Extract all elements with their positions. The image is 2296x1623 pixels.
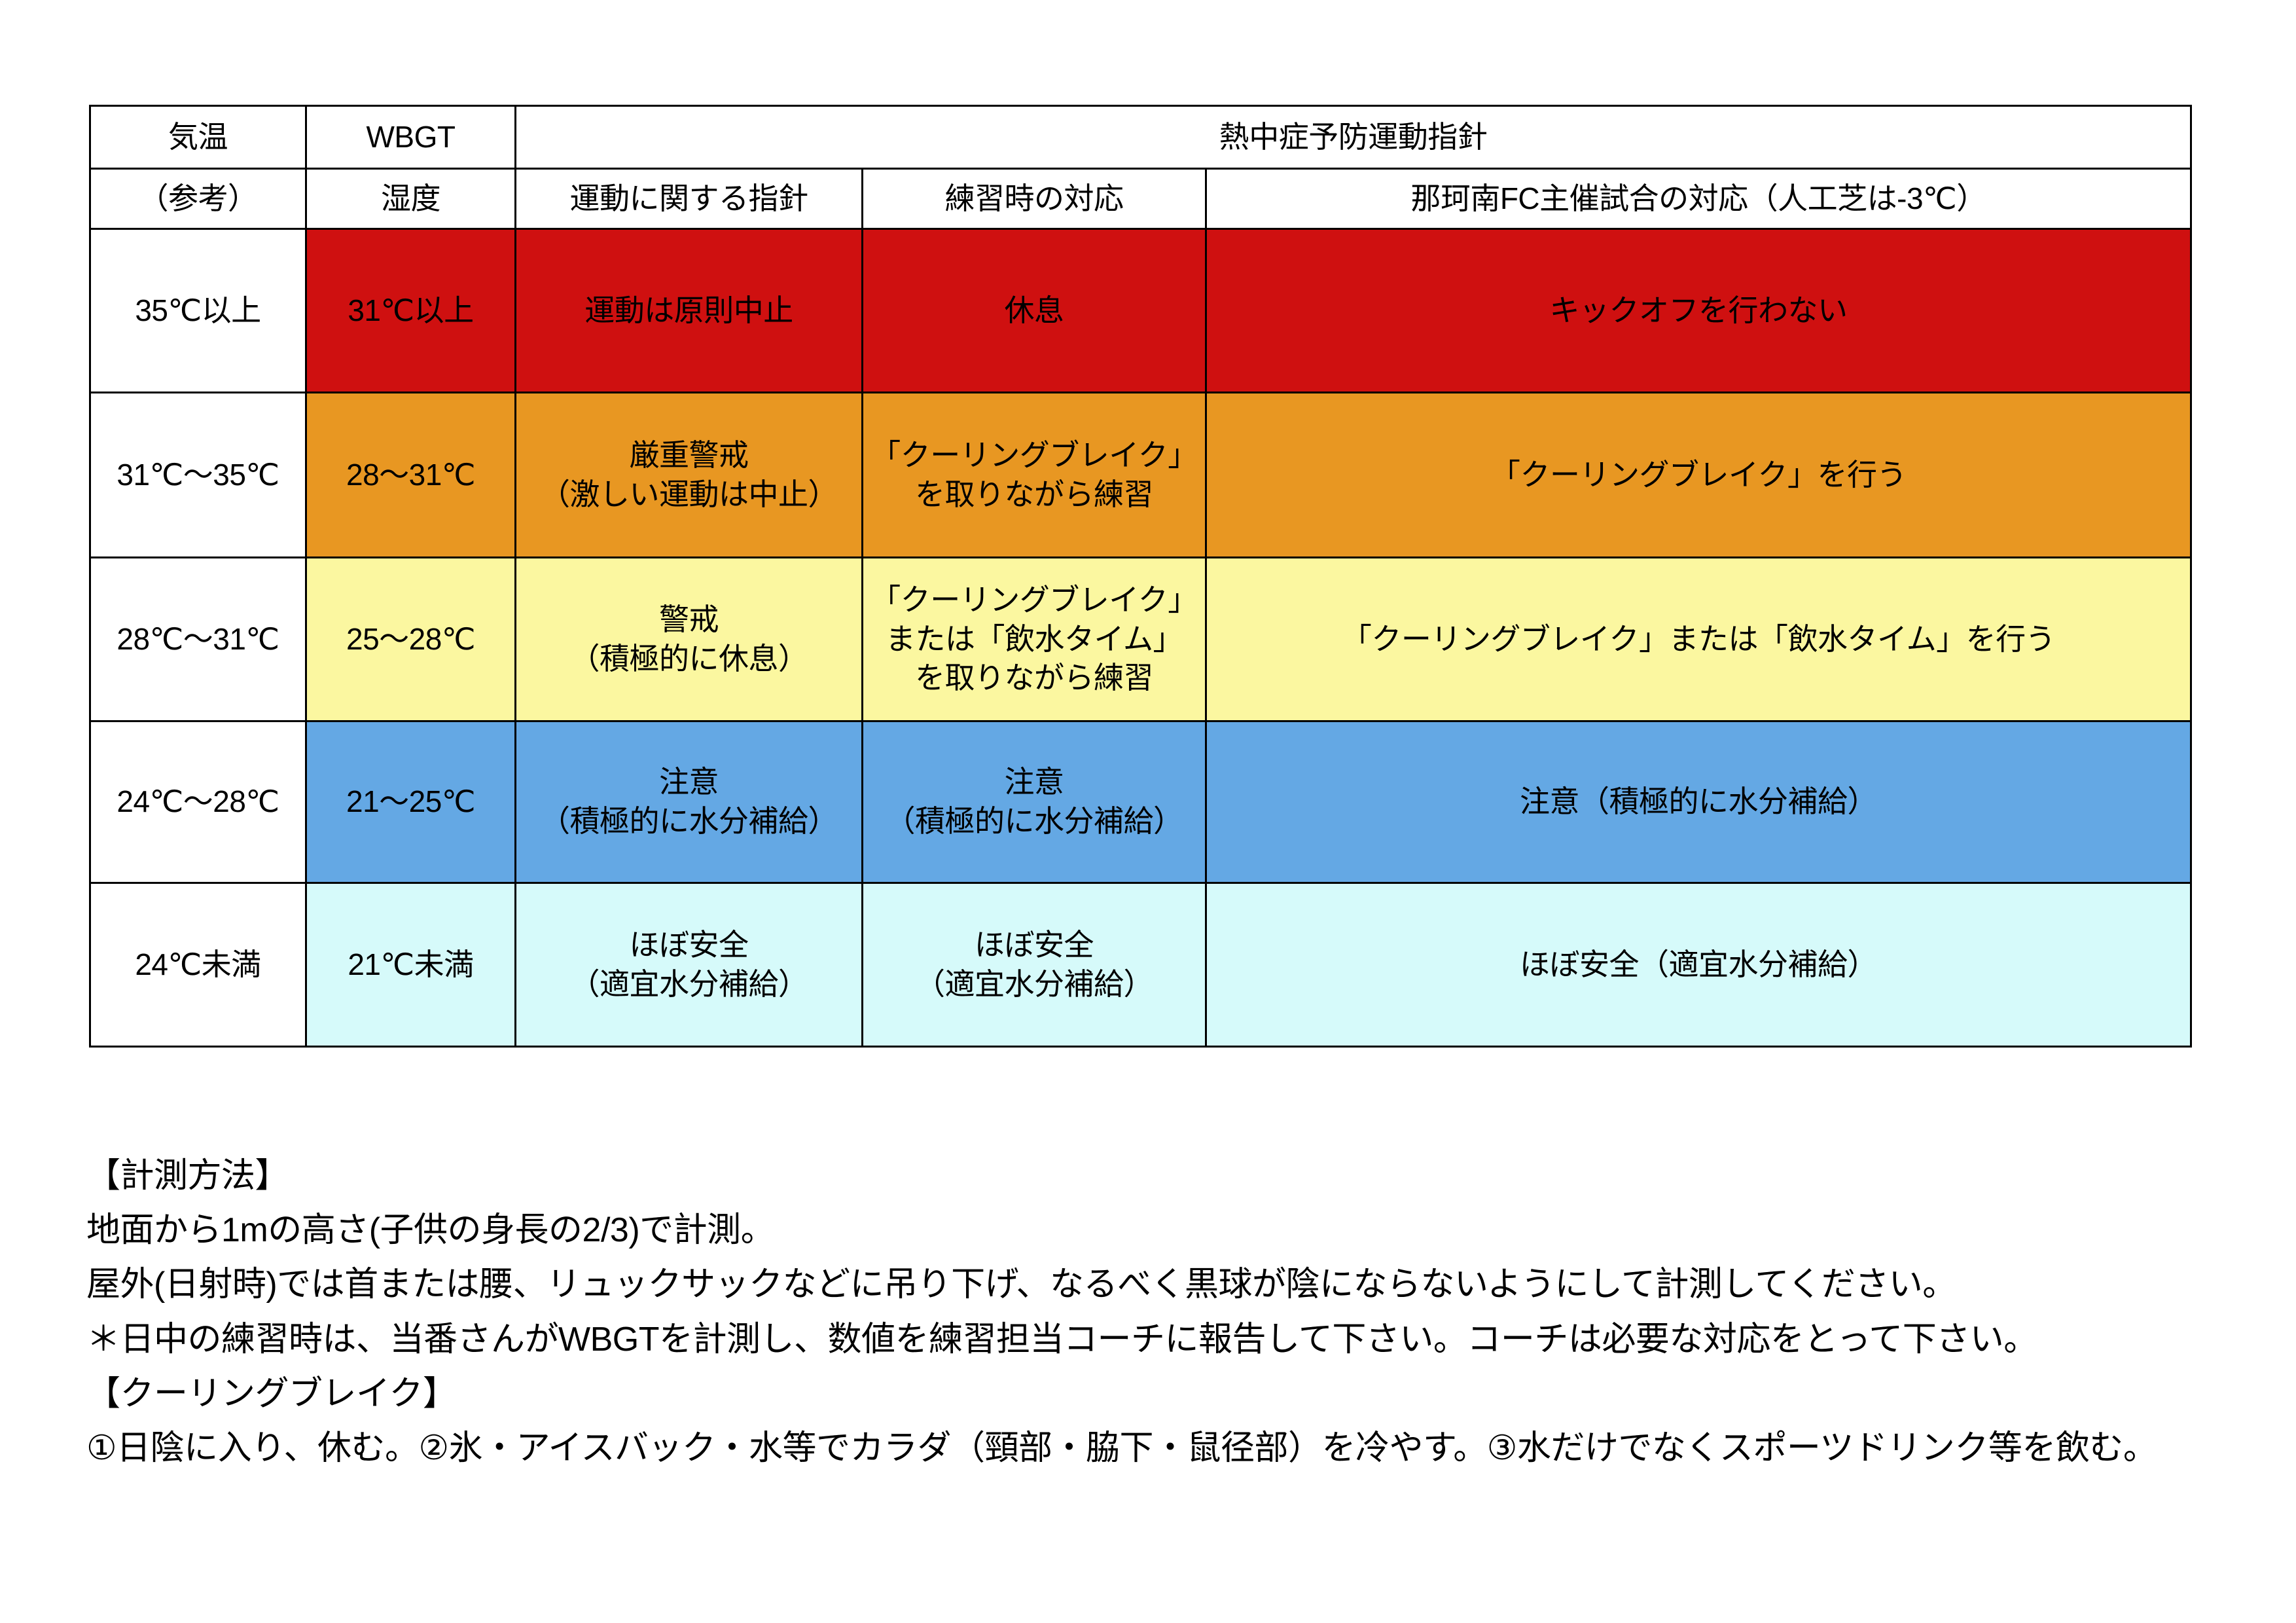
cell-temperature: 35℃以上 <box>90 229 306 393</box>
cell-text-line: ほぼ安全 <box>869 926 1200 965</box>
header-exercise-guideline: 運動に関する指針 <box>516 169 863 229</box>
cell-wbgt: 21～25℃ <box>306 721 516 883</box>
cell-text-line: 休息 <box>869 291 1200 331</box>
cell-text-line: 「クーリングブレイク」を行う <box>1212 456 2185 495</box>
note-measurement-heading: 【計測方法】 <box>86 1149 2246 1203</box>
cell-match-response: 「クーリングブレイク」または「飲水タイム」を行う <box>1206 558 2191 721</box>
cell-exercise-guideline: ほぼ安全 （適宜水分補給） <box>516 883 863 1047</box>
cell-temperature: 31℃～35℃ <box>90 393 306 558</box>
cell-text-line: （積極的に水分補給） <box>869 802 1200 841</box>
cell-exercise-guideline: 運動は原則中止 <box>516 229 863 393</box>
cell-text-line: 注意（積極的に水分補給） <box>1212 782 2185 822</box>
header-match-response: 那珂南FC主催試合の対応（人工芝は-3℃） <box>1206 169 2191 229</box>
cell-match-response: キックオフを行わない <box>1206 229 2191 393</box>
cell-practice-response: 「クーリングブレイク」 または「飲水タイム」 を取りながら練習 <box>863 558 1206 721</box>
table-row: 31℃～35℃ 28～31℃ 厳重警戒 （激しい運動は中止） 「クーリングブレイ… <box>90 393 2191 558</box>
cell-text-line: 「クーリングブレイク」 <box>869 581 1200 620</box>
header-wbgt: WBGT <box>306 106 516 169</box>
cell-practice-response: 注意 （積極的に水分補給） <box>863 721 1206 883</box>
cell-text-line: 「クーリングブレイク」 <box>869 436 1200 475</box>
header-temperature-sub: （参考） <box>90 169 306 229</box>
cell-wbgt: 21℃未満 <box>306 883 516 1047</box>
cell-text-line: （適宜水分補給） <box>522 965 856 1004</box>
cell-text-line: または「飲水タイム」 <box>869 620 1200 659</box>
note-cooling-line-1: ①日陰に入り、休む。②氷・アイスバック・水等でカラダ（頸部・脇下・鼠径部）を冷や… <box>86 1421 2246 1476</box>
cell-text-line: 注意 <box>869 763 1200 802</box>
page-root: 気温 WBGT 熱中症予防運動指針 （参考） 湿度 運動に関する指針 練習時の対… <box>0 0 2296 1623</box>
cell-practice-response: ほぼ安全 （適宜水分補給） <box>863 883 1206 1047</box>
heat-guideline-table-wrapper: 気温 WBGT 熱中症予防運動指針 （参考） 湿度 運動に関する指針 練習時の対… <box>89 105 2190 1048</box>
header-wbgt-sub: 湿度 <box>306 169 516 229</box>
cell-text-line: （適宜水分補給） <box>869 965 1200 1004</box>
header-temperature: 気温 <box>90 106 306 169</box>
cell-practice-response: 休息 <box>863 229 1206 393</box>
note-measurement-line-2: 屋外(日射時)では首または腰、リュックサックなどに吊り下げ、なるべく黒球が陰にな… <box>86 1258 2246 1312</box>
cell-text-line: 注意 <box>522 763 856 802</box>
cell-exercise-guideline: 注意 （積極的に水分補給） <box>516 721 863 883</box>
cell-temperature: 24℃～28℃ <box>90 721 306 883</box>
table-row: 28℃～31℃ 25～28℃ 警戒 （積極的に休息） 「クーリングブレイク」 ま… <box>90 558 2191 721</box>
cell-match-response: ほぼ安全（適宜水分補給） <box>1206 883 2191 1047</box>
cell-practice-response: 「クーリングブレイク」 を取りながら練習 <box>863 393 1206 558</box>
table-row: 24℃未満 21℃未満 ほぼ安全 （適宜水分補給） ほぼ安全 （適宜水分補給） … <box>90 883 2191 1047</box>
cell-text-line: （積極的に水分補給） <box>522 802 856 841</box>
cell-text-line: ほぼ安全 <box>522 926 856 965</box>
cell-text-line: （積極的に休息） <box>522 640 856 679</box>
note-cooling-heading: 【クーリングブレイク】 <box>86 1367 2246 1421</box>
cell-exercise-guideline: 厳重警戒 （激しい運動は中止） <box>516 393 863 558</box>
table-row: 35℃以上 31℃以上 運動は原則中止 休息 キックオフを行わない <box>90 229 2191 393</box>
cell-temperature: 28℃～31℃ <box>90 558 306 721</box>
cell-text-line: を取りながら練習 <box>869 659 1200 698</box>
header-group-title: 熱中症予防運動指針 <box>516 106 2191 169</box>
cell-match-response: 注意（積極的に水分補給） <box>1206 721 2191 883</box>
cell-temperature: 24℃未満 <box>90 883 306 1047</box>
cell-text-line: 警戒 <box>522 600 856 640</box>
cell-wbgt: 31℃以上 <box>306 229 516 393</box>
note-measurement-line-1: 地面から1mの高さ(子供の身長の2/3)で計測。 <box>86 1203 2246 1258</box>
cell-text-line: を取りながら練習 <box>869 475 1200 515</box>
cell-text-line: 運動は原則中止 <box>522 291 856 331</box>
cell-text-line: キックオフを行わない <box>1212 291 2185 331</box>
cell-wbgt: 28～31℃ <box>306 393 516 558</box>
heat-guideline-table: 気温 WBGT 熱中症予防運動指針 （参考） 湿度 運動に関する指針 練習時の対… <box>89 105 2192 1048</box>
note-measurement-line-3: ＊日中の練習時は、当番さんがWBGTを計測し、数値を練習担当コーチに報告して下さ… <box>86 1313 2246 1367</box>
cell-text-line: 「クーリングブレイク」または「飲水タイム」を行う <box>1212 620 2185 659</box>
cell-wbgt: 25～28℃ <box>306 558 516 721</box>
header-practice-response: 練習時の対応 <box>863 169 1206 229</box>
table-row: 24℃～28℃ 21～25℃ 注意 （積極的に水分補給） 注意 （積極的に水分補… <box>90 721 2191 883</box>
table-header-row-2: （参考） 湿度 運動に関する指針 練習時の対応 那珂南FC主催試合の対応（人工芝… <box>90 169 2191 229</box>
cell-text-line: 厳重警戒 <box>522 436 856 475</box>
cell-match-response: 「クーリングブレイク」を行う <box>1206 393 2191 558</box>
cell-text-line: （激しい運動は中止） <box>522 475 856 515</box>
cell-exercise-guideline: 警戒 （積極的に休息） <box>516 558 863 721</box>
table-header-row-1: 気温 WBGT 熱中症予防運動指針 <box>90 106 2191 169</box>
cell-text-line: ほぼ安全（適宜水分補給） <box>1212 945 2185 985</box>
notes-section: 【計測方法】 地面から1mの高さ(子供の身長の2/3)で計測。 屋外(日射時)で… <box>86 1149 2246 1476</box>
